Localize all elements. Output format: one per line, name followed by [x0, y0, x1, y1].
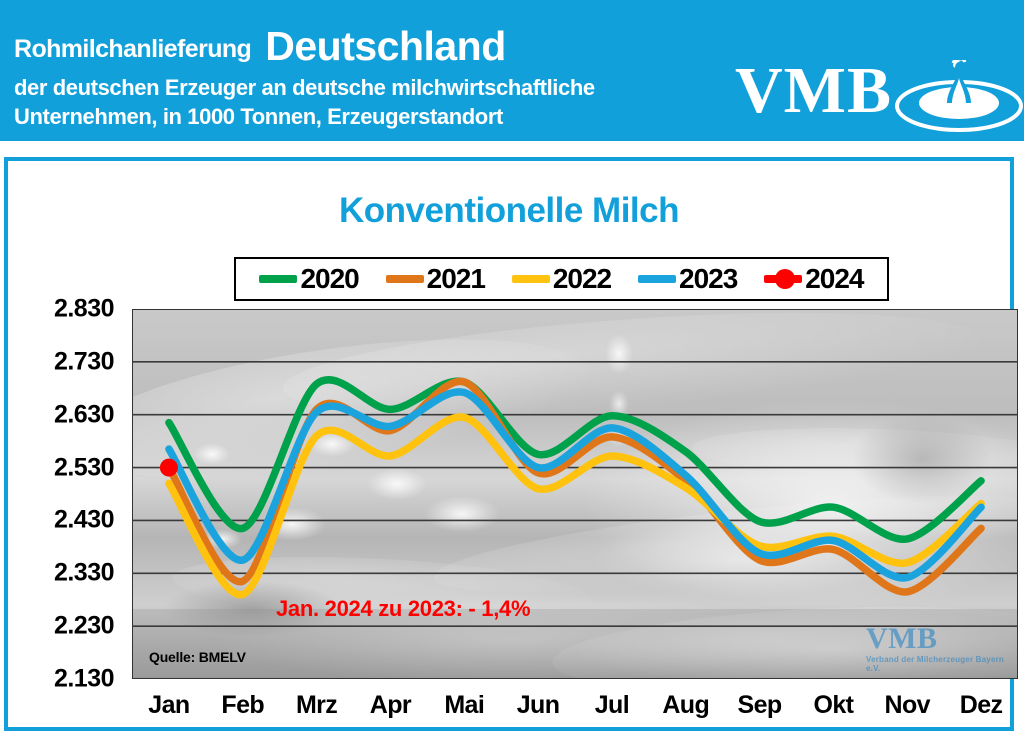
x-axis-tick-label: Okt	[813, 691, 853, 720]
header-subject: Rohmilchanlieferung	[14, 35, 251, 64]
source-note: Quelle: BMELV	[149, 649, 246, 665]
y-axis-tick-label: 2.530	[54, 453, 114, 482]
y-axis-tick-label: 2.130	[54, 665, 114, 694]
x-axis-tick-label: Jun	[517, 691, 560, 720]
x-axis-tick-label: Aug	[662, 691, 709, 720]
vmb-watermark: VMB Verband der Milcherzeuger Bayern e.V…	[866, 624, 1010, 673]
x-axis-tick-label: Dez	[960, 691, 1003, 720]
y-axis-tick-label: 2.630	[54, 400, 114, 429]
page-header: RohmilchanlieferungDeutschland der deuts…	[0, 0, 1024, 141]
y-axis: 2.8302.7302.6302.5302.4302.3302.2302.130	[8, 161, 132, 727]
y-axis-tick-label: 2.430	[54, 506, 114, 535]
x-axis: JanFebMrzAprMaiJunJulAugSepOktNovDez	[132, 683, 1010, 723]
plot-wrapper: 2.8302.7302.6302.5302.4302.3302.2302.130…	[8, 161, 1010, 727]
vmb-logo-wordmark: VMB	[735, 58, 892, 124]
vmb-watermark-word: VMB	[866, 624, 1010, 654]
header-text-block: RohmilchanlieferungDeutschland der deuts…	[14, 20, 595, 131]
x-axis-tick-label: Nov	[885, 691, 930, 720]
vmb-logo: VMB	[735, 62, 1024, 141]
header-title-line: RohmilchanlieferungDeutschland	[14, 20, 595, 67]
x-axis-tick-label: Jan	[148, 691, 189, 720]
header-country: Deutschland	[265, 23, 506, 70]
y-axis-tick-label: 2.730	[54, 347, 114, 376]
x-axis-tick-label: Sep	[738, 691, 782, 720]
y-axis-tick-label: 2.330	[54, 559, 114, 588]
x-axis-tick-label: Mai	[444, 691, 484, 720]
y-axis-tick-label: 2.230	[54, 612, 114, 641]
chart-panel: Konventionelle Milch 2020202120222023202…	[4, 157, 1014, 731]
milk-drop-ripple-icon	[895, 60, 1024, 139]
x-axis-tick-label: Feb	[221, 691, 264, 720]
comparison-annotation: Jan. 2024 zu 2023: - 1,4%	[276, 596, 530, 622]
header-description-line-2: Unternehmen, in 1000 Tonnen, Erzeugersta…	[14, 104, 595, 131]
y-axis-tick-label: 2.830	[54, 295, 114, 324]
x-axis-tick-label: Jul	[595, 691, 629, 720]
x-axis-tick-label: Apr	[370, 691, 411, 720]
data-point-2024	[160, 459, 178, 477]
x-axis-tick-label: Mrz	[296, 691, 337, 720]
header-description-line-1: der deutschen Erzeuger an deutsche milch…	[14, 75, 595, 102]
vmb-watermark-subtitle: Verband der Milcherzeuger Bayern e.V.	[866, 655, 1010, 673]
